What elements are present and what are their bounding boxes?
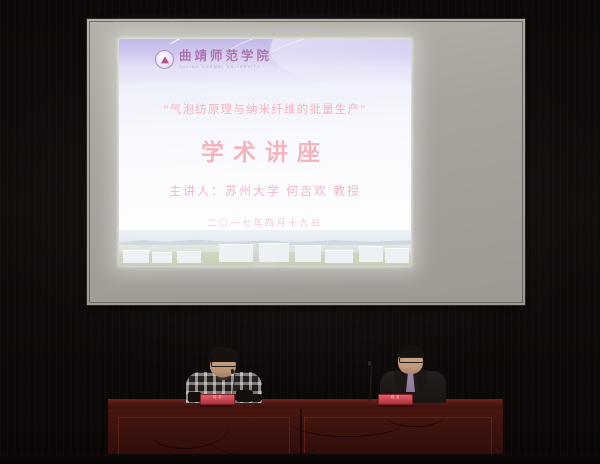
campus-building	[385, 248, 409, 263]
campus-building	[123, 250, 149, 263]
slide-date-line: 二〇一七年四月十九日	[119, 216, 411, 229]
slide-speaker-line: 主讲人：苏州大学 何吉欢 教授	[119, 182, 411, 199]
microphone-head-right	[368, 361, 371, 366]
campus-building	[325, 250, 353, 263]
glasses-icon	[399, 357, 424, 363]
hanging-cable	[385, 404, 445, 427]
slide-campus-photo	[119, 230, 411, 266]
stage-floor	[0, 454, 600, 464]
campus-building	[219, 244, 253, 262]
projected-slide: 曲靖师范学院 QUJING NORMAL UNIVERSITY “气泡纺原理与纳…	[119, 39, 411, 266]
university-crest-icon	[155, 50, 174, 69]
microphone-head-left	[231, 369, 234, 374]
nameplate-right-text: 姓 名	[379, 396, 412, 399]
campus-building	[295, 245, 321, 262]
black-cap	[208, 347, 238, 362]
nameplate-left: 姓 名	[200, 394, 235, 405]
auditorium-scene: 曲靖师范学院 QUJING NORMAL UNIVERSITY “气泡纺原理与纳…	[0, 0, 600, 464]
university-logo: 曲靖师范学院 QUJING NORMAL UNIVERSITY	[155, 50, 272, 69]
glasses-icon	[211, 361, 237, 367]
slide-topic-title: “气泡纺原理与纳米纤维的批量生产”	[119, 101, 411, 117]
university-name-cn: 曲靖师范学院	[179, 50, 272, 63]
university-logo-text: 曲靖师范学院 QUJING NORMAL UNIVERSITY	[179, 50, 272, 69]
campus-building	[177, 251, 201, 263]
hair	[397, 346, 424, 357]
nameplate-left-text: 姓 名	[201, 396, 234, 399]
desk-prop	[252, 394, 261, 402]
campus-building	[259, 243, 289, 262]
desk-prop	[236, 390, 253, 402]
university-name-en: QUJING NORMAL UNIVERSITY	[179, 65, 272, 69]
campus-building	[152, 252, 172, 263]
slide-headline: 学术讲座	[119, 133, 411, 167]
campus-building	[359, 246, 383, 262]
